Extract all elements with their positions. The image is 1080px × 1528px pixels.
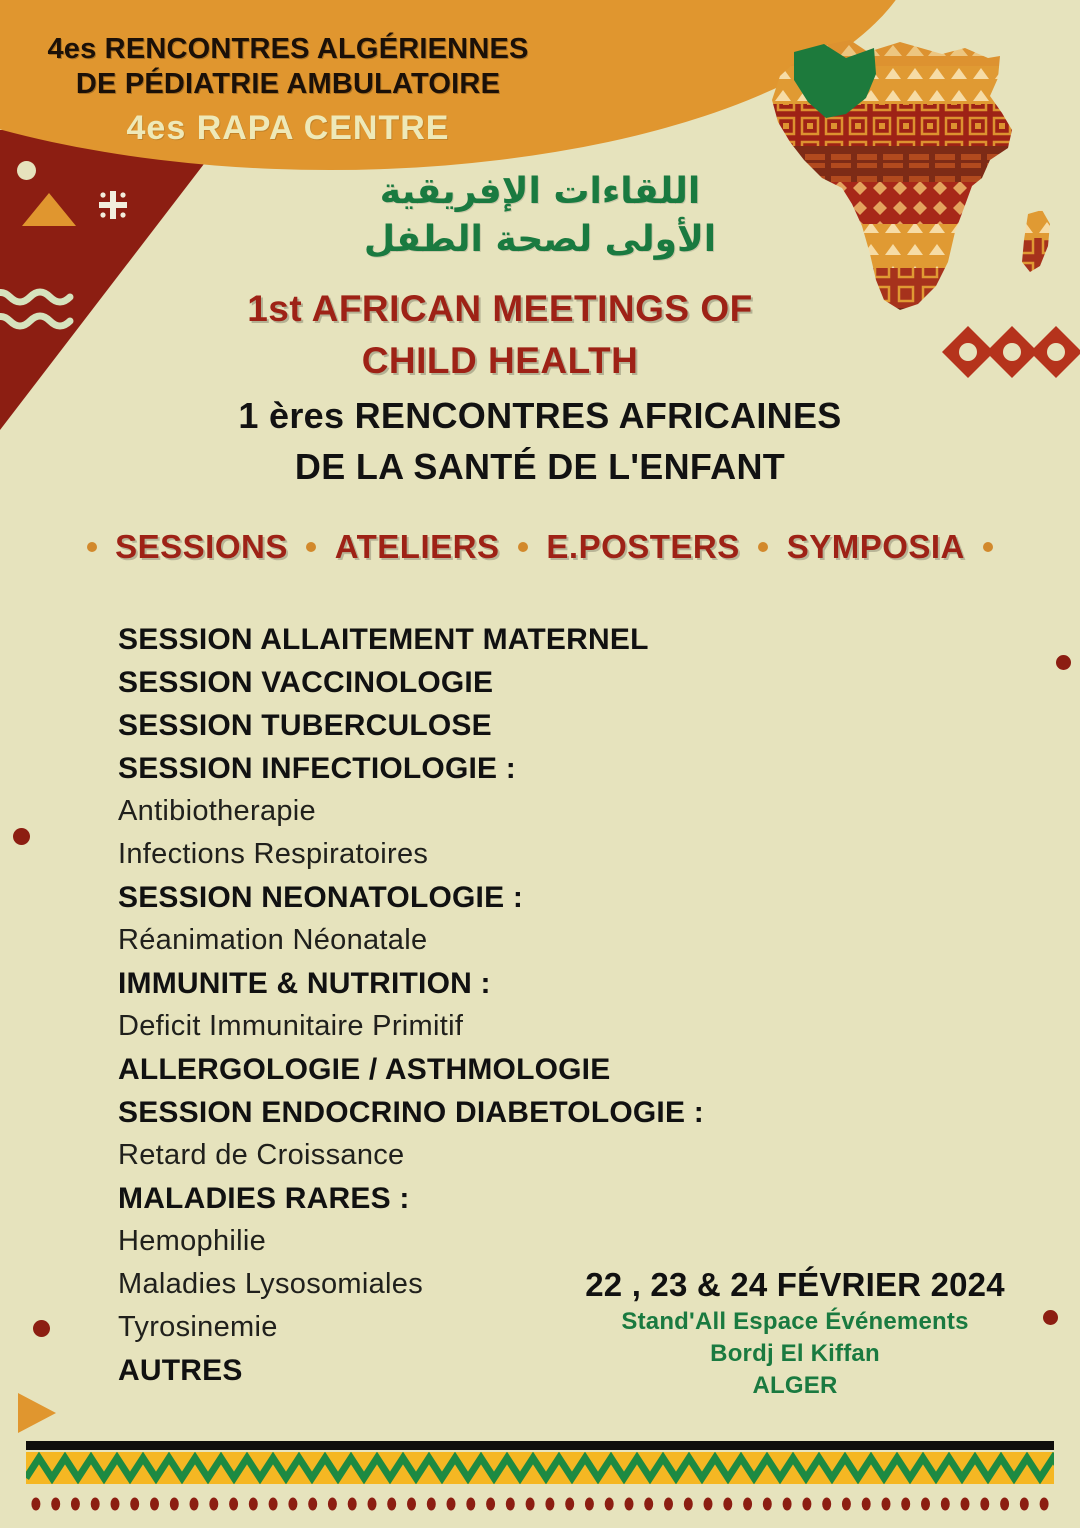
session-list-item: SESSION NEONATOLOGIE : (118, 876, 838, 919)
session-list-item: MALADIES RARES : (118, 1177, 838, 1220)
scatter-dot-icon (1043, 1310, 1058, 1325)
english-title-line1: 1st AFRICAN MEETINGS OF (0, 283, 1000, 335)
session-list-item: ALLERGOLOGIE / ASTHMOLOGIE (118, 1048, 838, 1091)
session-list-item: SESSION INFECTIOLOGIE : (118, 747, 838, 790)
arabic-title-block: اللقاءات الإفريقية الأولى لصحة الطفل (0, 168, 1080, 264)
scatter-dot-icon (33, 1320, 50, 1337)
venue-district: Bordj El Kiffan (545, 1338, 1045, 1370)
bullet-dot-icon (518, 542, 528, 552)
banner-item-sessions: SESSIONS (115, 528, 288, 566)
banner-item-symposia: SYMPOSIA (787, 528, 965, 566)
scatter-dot-icon (13, 828, 30, 845)
bottom-dot-row (26, 1496, 1054, 1512)
french-title-block: 1 ères RENCONTRES AFRICAINES DE LA SANTÉ… (0, 390, 1080, 492)
activities-banner: SESSIONS ATELIERS E.POSTERS SYMPOSIA (0, 528, 1080, 566)
event-details-block: 22 , 23 & 24 FÉVRIER 2024 Stand'All Espa… (545, 1264, 1045, 1402)
session-list-item: IMMUNITE & NUTRITION : (118, 962, 838, 1005)
scatter-dot-icon (1056, 655, 1071, 670)
dot-row-icon (26, 1496, 1054, 1512)
session-list-item: Hemophilie (118, 1220, 838, 1263)
banner-item-ateliers: ATELIERS (335, 528, 500, 566)
session-list-item: Réanimation Néonatale (118, 919, 838, 962)
english-title-block: 1st AFRICAN MEETINGS OF CHILD HEALTH (0, 283, 1000, 387)
venue-name: Stand'All Espace Événements (545, 1306, 1045, 1338)
session-list-item: Retard de Croissance (118, 1134, 838, 1177)
banner-item-eposters: E.POSTERS (546, 528, 739, 566)
session-list-item: Deficit Immunitaire Primitif (118, 1005, 838, 1048)
header-text-block: 4es RENCONTRES ALGÉRIENNES DE PÉDIATRIE … (18, 32, 558, 151)
session-list-item: SESSION TUBERCULOSE (118, 704, 838, 747)
header-title-line2: DE PÉDIATRIE AMBULATOIRE (18, 67, 558, 102)
french-title-line1: 1 ères RENCONTRES AFRICAINES (0, 390, 1080, 441)
header-subtitle-rapa: 4es RAPA CENTRE (18, 106, 558, 151)
bottom-black-rule (26, 1441, 1054, 1450)
english-title-line2: CHILD HEALTH (0, 335, 1000, 387)
arabic-title-line1: اللقاءات الإفريقية (0, 168, 1080, 216)
session-list-item: SESSION ALLAITEMENT MATERNEL (118, 618, 838, 661)
bullet-dot-icon (87, 542, 97, 552)
poster-canvas: 4es RENCONTRES ALGÉRIENNES DE PÉDIATRIE … (0, 0, 1080, 1528)
bullet-dot-icon (983, 542, 993, 552)
triangle-icon (18, 1393, 56, 1433)
bottom-yellow-band (26, 1452, 1054, 1484)
french-title-line2: DE LA SANTÉ DE L'ENFANT (0, 441, 1080, 492)
session-list-item: SESSION ENDOCRINO DIABETOLOGIE : (118, 1091, 838, 1134)
zigzag-border-icon (26, 1452, 1054, 1484)
bullet-dot-icon (306, 542, 316, 552)
event-date: 22 , 23 & 24 FÉVRIER 2024 (545, 1264, 1045, 1306)
session-list-item: Antibiotherapie (118, 790, 838, 833)
session-list-item: Infections Respiratoires (118, 833, 838, 876)
venue-city: ALGER (545, 1370, 1045, 1402)
session-list-item: SESSION VACCINOLOGIE (118, 661, 838, 704)
header-title-line1: 4es RENCONTRES ALGÉRIENNES (18, 32, 558, 67)
bullet-dot-icon (758, 542, 768, 552)
arabic-title-line2: الأولى لصحة الطفل (0, 216, 1080, 264)
